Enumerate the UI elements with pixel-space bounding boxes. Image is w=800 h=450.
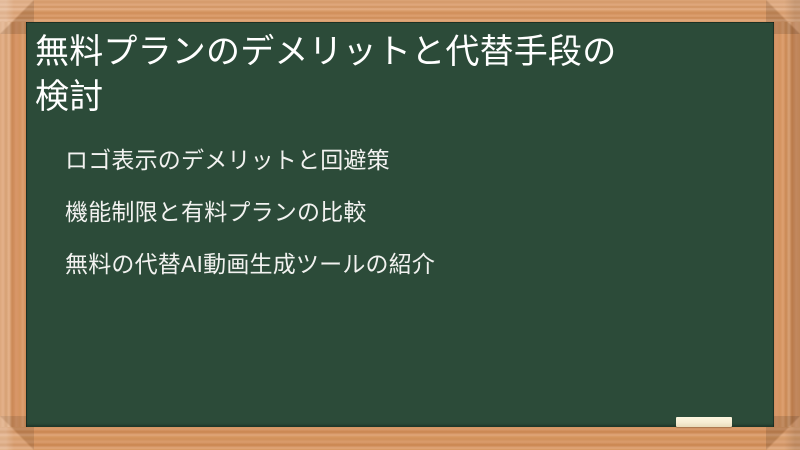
list-item: 機能制限と有料プランの比較 [65,198,764,226]
slide-title: 無料プランのデメリットと代替手段の 検討 [33,30,764,120]
frame-rail-bottom [0,427,800,450]
chalkboard-surface: 無料プランのデメリットと代替手段の 検討 ロゴ表示のデメリットと回避策 機能制限… [26,22,774,427]
list-item: 無料の代替AI動画生成ツールの紹介 [65,250,764,278]
chalk-stick [676,417,732,427]
chalkboard-slide: 無料プランのデメリットと代替手段の 検討 ロゴ表示のデメリットと回避策 機能制限… [0,0,800,450]
board-content: 無料プランのデメリットと代替手段の 検討 ロゴ表示のデメリットと回避策 機能制限… [26,22,774,427]
list-item: ロゴ表示のデメリットと回避策 [65,146,764,174]
frame-rail-top [0,0,800,22]
agenda-list: ロゴ表示のデメリットと回避策 機能制限と有料プランの比較 無料の代替AI動画生成… [33,146,764,278]
